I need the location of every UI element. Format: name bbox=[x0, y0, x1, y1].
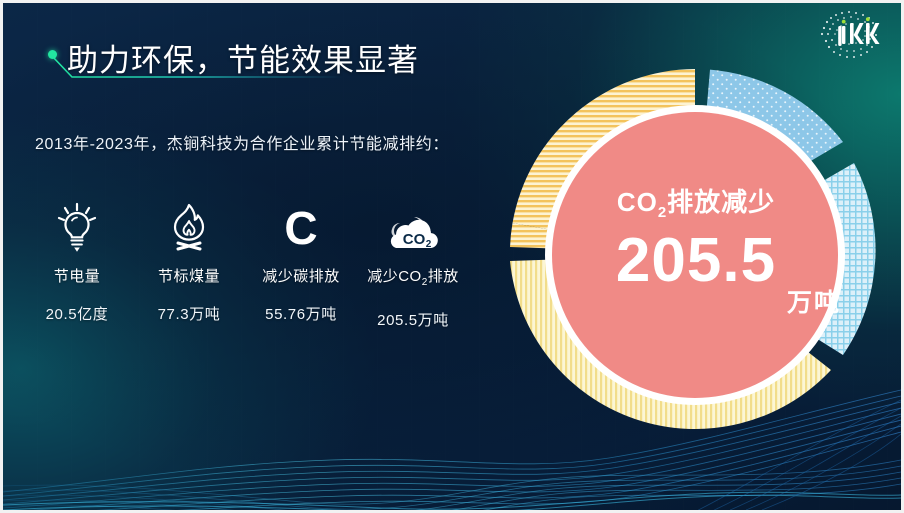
stat-value: 55.76万吨 bbox=[265, 305, 337, 325]
stat-label: 减少碳排放 bbox=[262, 267, 340, 287]
page-title: 助力环保，节能效果显著 bbox=[67, 41, 419, 81]
stat-value: 20.5亿度 bbox=[46, 305, 109, 325]
carbon-c-icon: C bbox=[271, 199, 331, 257]
svg-text:2: 2 bbox=[426, 239, 432, 250]
stat-item-carbon: C 减少碳排放 55.76万吨 bbox=[245, 199, 357, 325]
intro-paragraph: 2013年-2023年，杰锏科技为合作企业累计节能减排约： bbox=[35, 130, 485, 160]
stat-label: 节电量 bbox=[54, 267, 101, 287]
donut-core bbox=[552, 112, 838, 398]
stats-strip: 节电量 20.5亿度 节标煤量 77.3万吨 C 减少碳排放 bbox=[21, 199, 491, 331]
donut-chart bbox=[495, 55, 895, 455]
stat-label: 减少CO2排放 bbox=[367, 267, 459, 293]
stat-item-coal: 节标煤量 77.3万吨 bbox=[133, 199, 245, 325]
co2-cloud-icon: CO 2 bbox=[383, 199, 443, 257]
title-accent-dot bbox=[48, 50, 57, 59]
carbon-c-glyph: C bbox=[284, 205, 317, 251]
stat-item-co2: CO 2 减少CO2排放 205.5万吨 bbox=[357, 199, 469, 331]
stat-value: 205.5万吨 bbox=[377, 311, 449, 331]
lightbulb-icon bbox=[47, 199, 107, 257]
page-title-block: 助力环保，节能效果显著 bbox=[43, 41, 463, 99]
stat-label-tail: 排放 bbox=[428, 268, 459, 285]
flame-icon bbox=[159, 199, 219, 257]
stat-item-electricity: 节电量 20.5亿度 bbox=[21, 199, 133, 325]
svg-text:CO: CO bbox=[403, 231, 426, 248]
slide-root: 助力环保，节能效果显著 2013年-2023年，杰锏科技为合作企业累计节能减排约… bbox=[0, 0, 904, 513]
stat-label-main: 减少CO bbox=[367, 268, 422, 285]
stat-value: 77.3万吨 bbox=[158, 305, 221, 325]
stat-label: 节标煤量 bbox=[158, 267, 220, 287]
